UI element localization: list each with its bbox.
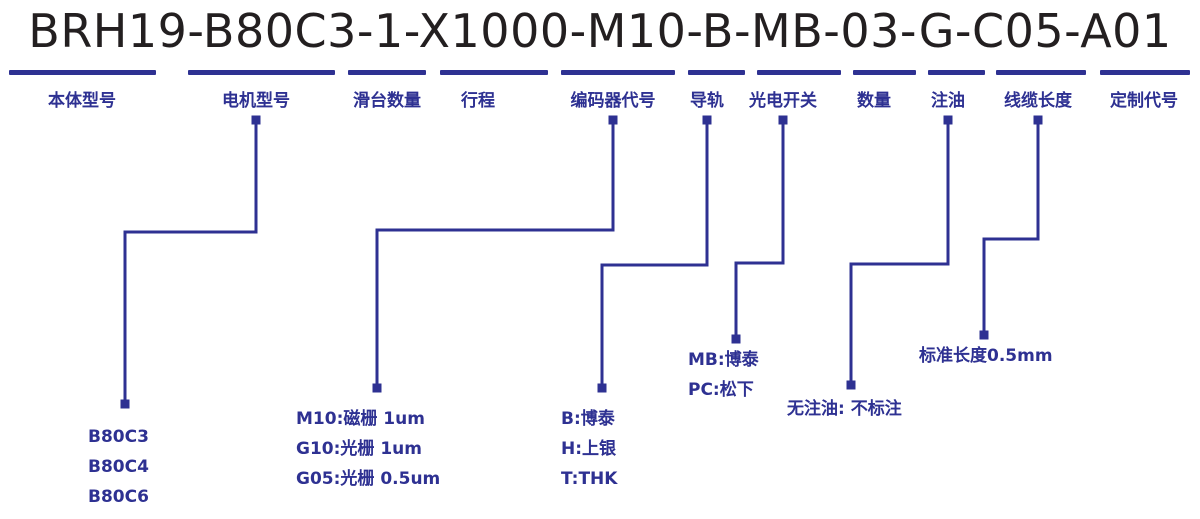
leader-path: [736, 120, 783, 339]
segment-underline-body-model: [9, 70, 156, 75]
note-option: B80C6: [88, 482, 149, 512]
note-option: 标准长度0.5mm: [919, 341, 1053, 371]
note-oiling: 无注油: 不标注: [787, 394, 902, 424]
note-encoder-code: M10:磁栅 1umG10:光栅 1umG05:光栅 0.5um: [296, 404, 440, 494]
leader-start-marker: [609, 116, 618, 125]
segment-underline-cable-length: [996, 70, 1086, 75]
leader-end-marker: [373, 384, 382, 393]
leader-start-marker: [252, 116, 261, 125]
segment-underline-quantity: [853, 70, 916, 75]
note-option: PC:松下: [688, 375, 759, 405]
note-option: B80C4: [88, 452, 149, 482]
segment-label-custom-code: 定制代号: [1110, 86, 1178, 111]
segment-label-guide-rail: 导轨: [690, 86, 724, 111]
segment-label-oiling: 注油: [931, 86, 965, 111]
segment-label-stroke: 行程: [461, 86, 495, 111]
segment-label-encoder-code: 编码器代号: [571, 86, 656, 111]
segment-underline-encoder-code: [561, 70, 675, 75]
note-option: G10:光栅 1um: [296, 434, 440, 464]
note-option: G05:光栅 0.5um: [296, 464, 440, 494]
leader-encoder-code: [373, 116, 618, 393]
note-photo-switch: MB:博泰PC:松下: [688, 345, 759, 405]
leader-end-marker: [980, 331, 989, 340]
leader-path: [125, 120, 256, 404]
segment-underline-custom-code: [1100, 70, 1190, 75]
leader-end-marker: [598, 384, 607, 393]
segment-underline-motor-model: [188, 70, 335, 75]
segment-underline-slide-count: [348, 70, 426, 75]
segment-label-quantity: 数量: [857, 86, 891, 111]
leader-path: [984, 120, 1038, 335]
note-cable-length: 标准长度0.5mm: [919, 341, 1053, 371]
segment-underline-photo-switch: [757, 70, 841, 75]
segment-label-cable-length: 线缆长度: [1004, 86, 1072, 111]
segment-underline-oiling: [928, 70, 985, 75]
note-option: B:博泰: [561, 404, 617, 434]
leader-motor-model: [121, 116, 261, 409]
leader-start-marker: [944, 116, 953, 125]
note-option: 无注油: 不标注: [787, 394, 902, 424]
leader-end-marker: [732, 335, 741, 344]
leader-cable-length: [980, 116, 1043, 340]
note-option: MB:博泰: [688, 345, 759, 375]
leader-path: [377, 120, 613, 388]
leader-photo-switch: [732, 116, 788, 344]
model-number-headline: BRH19-B80C3-1-X1000-M10-B-MB-03-G-C05-A0…: [0, 0, 1200, 62]
leader-start-marker: [703, 116, 712, 125]
leader-start-marker: [1034, 116, 1043, 125]
model-number-breakdown-diagram: BRH19-B80C3-1-X1000-M10-B-MB-03-G-C05-A0…: [0, 0, 1200, 519]
leader-end-marker: [121, 400, 130, 409]
note-motor-model: B80C3B80C4B80C6: [88, 422, 149, 512]
segment-label-body-model: 本体型号: [48, 86, 116, 111]
segment-label-photo-switch: 光电开关: [749, 86, 817, 111]
note-option: M10:磁栅 1um: [296, 404, 440, 434]
note-option: T:THK: [561, 464, 617, 494]
segment-underline-stroke: [440, 70, 548, 75]
note-option: H:上银: [561, 434, 617, 464]
leader-start-marker: [779, 116, 788, 125]
segment-underline-guide-rail: [688, 70, 745, 75]
segment-label-slide-count: 滑台数量: [353, 86, 421, 111]
leader-end-marker: [847, 381, 856, 390]
note-option: B80C3: [88, 422, 149, 452]
segment-label-motor-model: 电机型号: [222, 86, 290, 111]
note-guide-rail: B:博泰H:上银T:THK: [561, 404, 617, 494]
